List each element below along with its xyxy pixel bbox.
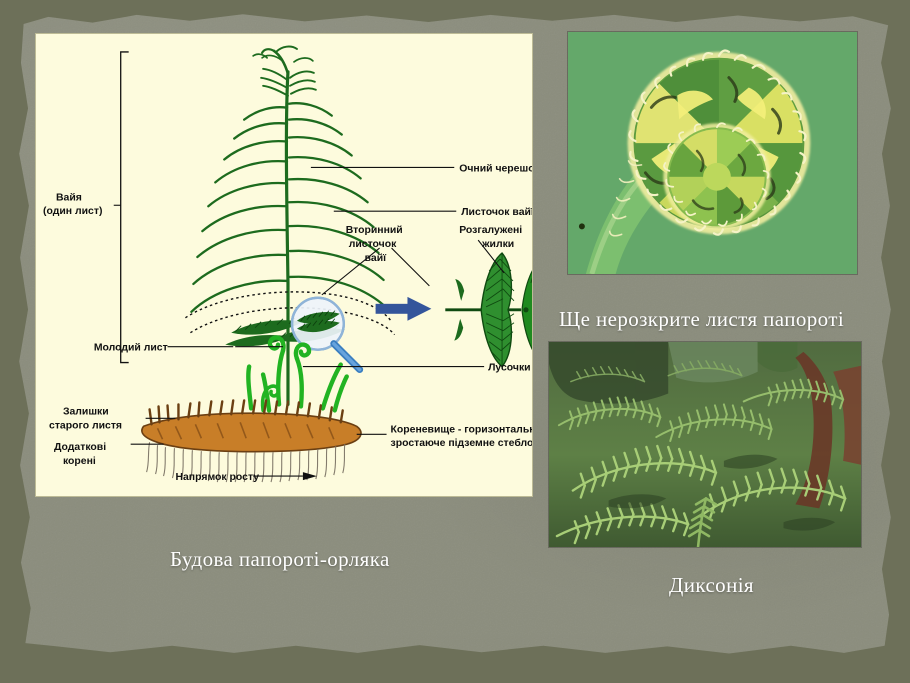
label-frond-line1: Вайя [56,192,82,203]
label-young-leaf: Молодий лист [94,343,168,354]
caption-unopened-leaves: Ще нерозкрите листя папороті [559,307,844,332]
label-veins-line1: Розгалужені [459,225,522,236]
photo-unopened-fern-leaf [567,31,858,275]
fiddlehead-illustration [568,32,857,274]
label-frond-line2: (один лист) [43,206,102,217]
label-adventitious-line1: Додаткові [54,442,106,453]
dicksonia-illustration [549,342,861,547]
label-pinna: Листочок вайї [461,207,532,218]
label-adventitious-line2: корені [63,456,96,467]
rhizome-shape [142,413,361,451]
label-growth-direction: Напрямок росту [175,472,259,483]
slide-canvas: .lbl { font-family: "Liberation Sans", s… [0,0,910,683]
label-old-leaf-line1: Залишки [63,406,109,417]
label-veins-line2: жилки [481,239,514,250]
label-scales: Лусочки [488,363,531,374]
label-pinnule-line2: листочок [349,239,397,250]
caption-fern-structure: Будова папороті-орляка [170,547,390,572]
caption-dicksonia: Диксонія [669,573,754,598]
diagram-illustration: .lbl { font-family: "Liberation Sans", s… [36,34,532,496]
label-rhizome-line1: Кореневище - горизонтально [391,424,532,435]
label-pinnule-line3: вайї [365,253,387,264]
label-rachis: Очний черешок [459,163,532,174]
label-old-leaf-line2: старого листя [49,420,122,431]
fern-structure-diagram: .lbl { font-family: "Liberation Sans", s… [35,33,533,497]
photo-dicksonia-tree-ferns [548,341,862,548]
label-pinnule-line1: Вторинний [346,225,403,236]
label-rhizome-line2: зростаюче підземне стебло [391,437,532,449]
